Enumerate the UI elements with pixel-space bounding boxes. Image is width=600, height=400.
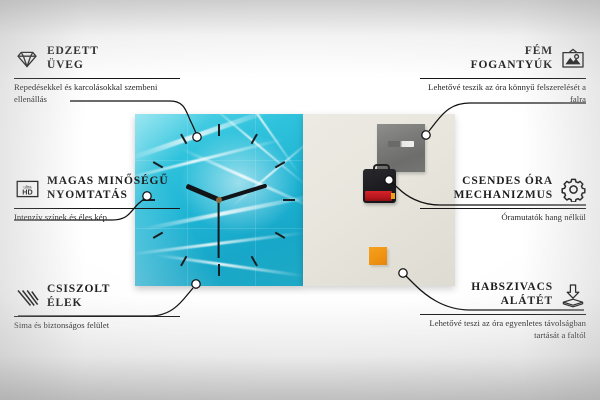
feature-title: HABSZIVACS ALÁTÉT: [471, 281, 553, 308]
gear-icon: [560, 176, 586, 202]
hanger-slot: [388, 141, 414, 147]
battery: [365, 191, 392, 201]
feature-header: FÉM FOGANTYÚK: [420, 42, 586, 76]
svg-text:HD: HD: [22, 188, 32, 197]
ultra-hd-icon: ultra HD: [14, 176, 40, 202]
divider: [14, 208, 180, 209]
divider: [420, 78, 586, 79]
feature-subtitle: Óramutatók hang nélkül: [420, 212, 586, 224]
divider: [420, 314, 586, 315]
polished-edge-icon: [14, 284, 40, 310]
feature-subtitle: Lehetővé teszik az óra könnyű felszerelé…: [420, 82, 586, 105]
clock-tick-12: [218, 124, 220, 200]
clock-mechanism: [363, 169, 396, 203]
feature-title: FÉM FOGANTYÚK: [471, 45, 553, 72]
feature-header: HABSZIVACS ALÁTÉT: [420, 278, 586, 312]
feature-title: MAGAS MINŐSÉGŰ NYOMTATÁS: [47, 175, 168, 202]
hand-center-cap: [216, 197, 222, 203]
feature-metal-handles: FÉM FOGANTYÚK Lehetővé teszik az óra kön…: [420, 42, 586, 105]
feature-header: CSENDES ÓRA MECHANIZMUS: [420, 172, 586, 206]
feature-foam-backing: HABSZIVACS ALÁTÉT Lehetővé teszi az óra …: [420, 278, 586, 341]
clock-tick-3: [219, 199, 295, 201]
feature-header: CSISZOLT ÉLEK: [14, 280, 180, 314]
feature-title: CSENDES ÓRA MECHANIZMUS: [454, 175, 553, 202]
foam-pad-icon: [560, 282, 586, 308]
feature-title: EDZETT ÜVEG: [47, 45, 99, 72]
picture-hanger-icon: [560, 46, 586, 72]
second-hand: [218, 200, 220, 258]
feature-title: CSISZOLT ÉLEK: [47, 283, 110, 310]
feature-subtitle: Repedésekkel és karcolásokkal szembeni e…: [14, 82, 180, 105]
feature-subtitle: Lehetővé teszi az óra egyenletes távolsá…: [420, 318, 586, 341]
feature-silent-mechanism: CSENDES ÓRA MECHANIZMUS Óramutatók hang …: [420, 172, 586, 224]
feature-high-quality-print: ultra HD MAGAS MINŐSÉGŰ NYOMTATÁS Intenz…: [14, 172, 180, 224]
feature-subtitle: Intenzív színek és éles kép: [14, 212, 180, 224]
mechanism-loop: [373, 164, 390, 174]
divider: [420, 208, 586, 209]
divider: [14, 316, 180, 317]
battery-terminal: [391, 193, 395, 199]
foam-pad: [369, 247, 387, 265]
feature-polished-edges: CSISZOLT ÉLEK Sima és biztonságos felüle…: [14, 280, 180, 332]
feather-streak: [156, 254, 303, 278]
divider: [14, 78, 180, 79]
feature-header: EDZETT ÜVEG: [14, 42, 180, 76]
feature-subtitle: Sima és biztonságos felület: [14, 320, 180, 332]
infographic-canvas: EDZETT ÜVEG Repedésekkel és karcolásokka…: [0, 0, 600, 400]
feature-header: ultra HD MAGAS MINŐSÉGŰ NYOMTATÁS: [14, 172, 180, 206]
diamond-icon: [14, 46, 40, 72]
feature-tempered-glass: EDZETT ÜVEG Repedésekkel és karcolásokka…: [14, 42, 180, 105]
